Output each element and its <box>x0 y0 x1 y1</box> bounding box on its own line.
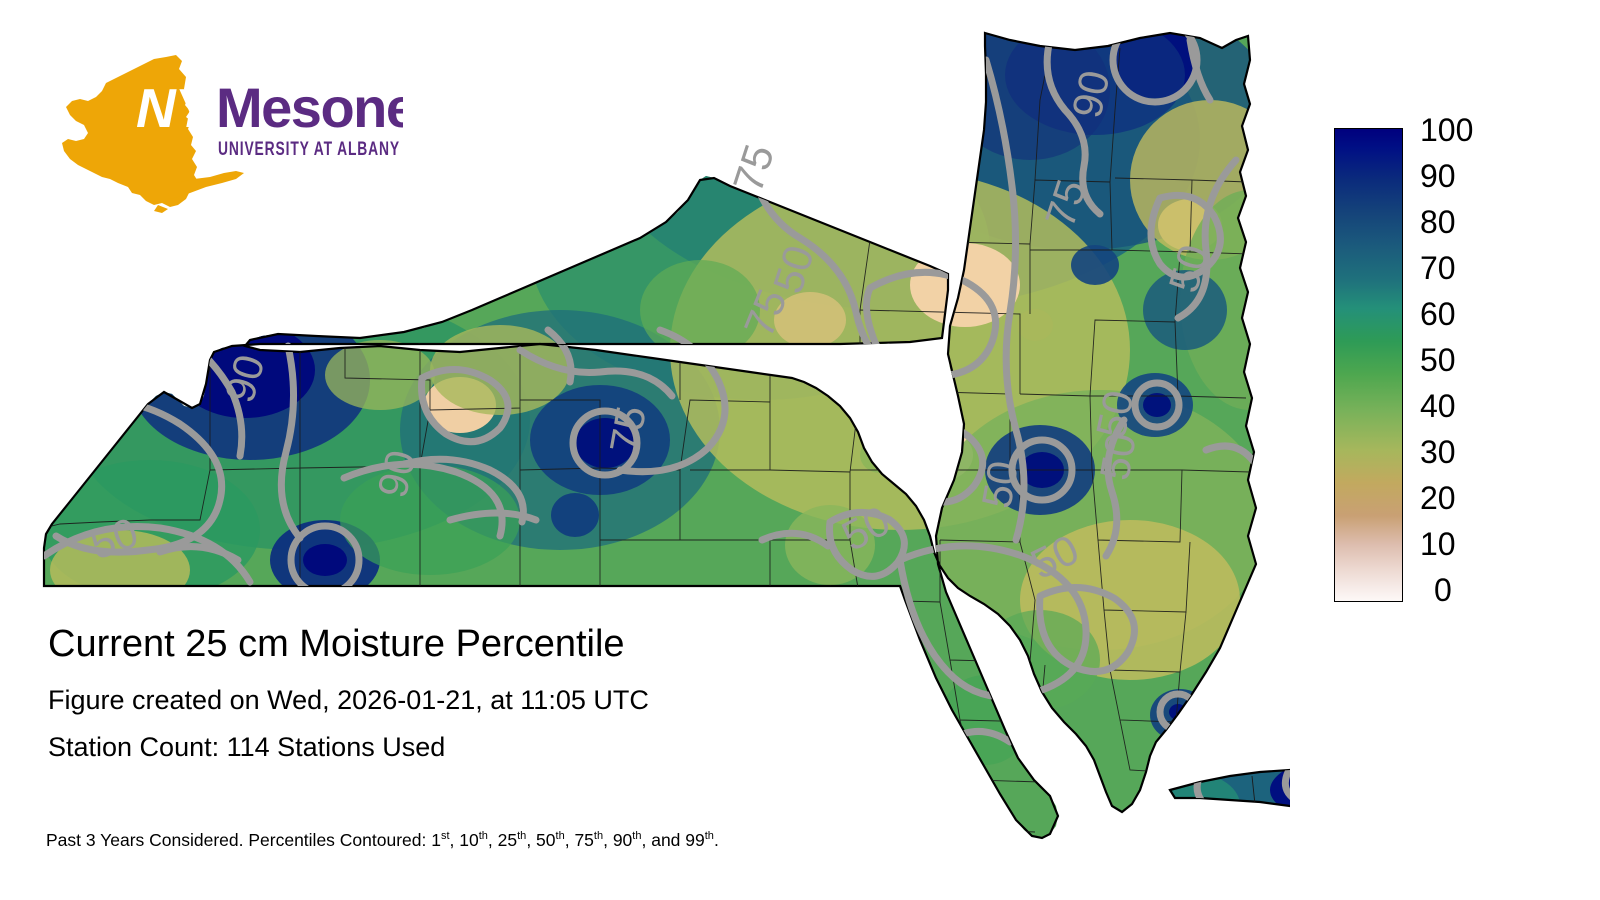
station-count-text: Station Count: 114 Stations Used <box>48 734 948 761</box>
colorbar-tick-50: 50 <box>1420 344 1456 376</box>
svg-text:75: 75 <box>601 402 655 456</box>
page-title: Current 25 cm Moisture Percentile <box>48 625 948 663</box>
svg-text:50: 50 <box>973 457 1027 511</box>
colorbar-tick-60: 60 <box>1420 298 1456 330</box>
colorbar-tick-10: 10 <box>1420 528 1456 560</box>
colorbar-gradient <box>1334 128 1403 602</box>
contour-footnote: Past 3 Years Considered. Percentiles Con… <box>46 832 719 850</box>
moisture-percentile-map: 90 75 75 90 75 75 90 50 50 50 50 50 50 5… <box>0 0 1290 900</box>
colorbar-tick-30: 30 <box>1420 436 1456 468</box>
colorbar-tick-40: 40 <box>1420 390 1456 422</box>
svg-text:90: 90 <box>1063 66 1119 121</box>
colorbar-tick-90: 90 <box>1420 160 1456 192</box>
svg-text:50: 50 <box>1091 429 1145 483</box>
figure-root: NYS Mesonet UNIVERSITY AT ALBANY <box>0 0 1600 900</box>
colorbar-tick-80: 80 <box>1420 206 1456 238</box>
colorbar-tick-100: 100 <box>1420 114 1473 146</box>
colorbar-tick-20: 20 <box>1420 482 1456 514</box>
colorbar-tick-0: 0 <box>1434 574 1452 606</box>
colorbar-tick-70: 70 <box>1420 252 1456 284</box>
caption-block: Current 25 cm Moisture Percentile Figure… <box>48 625 948 761</box>
colorbar: 100 90 80 70 60 50 40 30 20 10 0 <box>1334 128 1574 608</box>
figure-created-text: Figure created on Wed, 2026-01-21, at 11… <box>48 687 948 714</box>
